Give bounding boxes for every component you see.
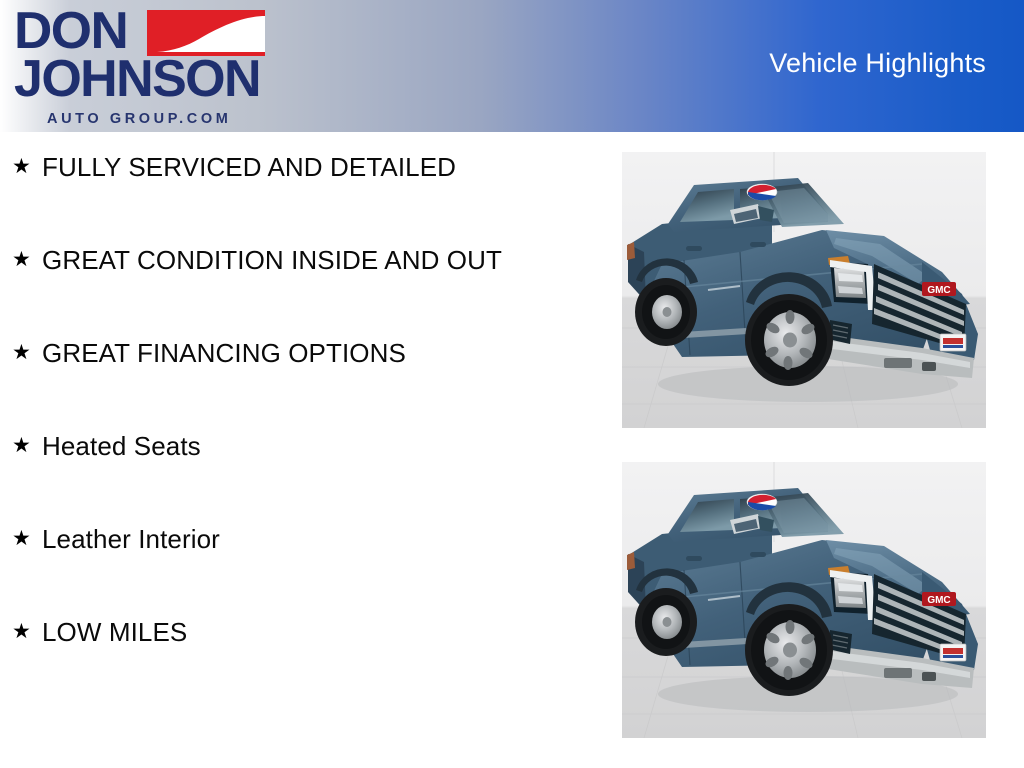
- svg-text:GMC: GMC: [927, 285, 950, 296]
- vehicle-photo-top[interactable]: GMC: [622, 152, 986, 428]
- star-icon: ★: [12, 336, 42, 370]
- page-title: Vehicle Highlights: [769, 50, 986, 77]
- list-item: ★ Leather Interior: [0, 522, 600, 556]
- logo-tagline: AUTO GROUP.COM: [47, 111, 231, 127]
- dealer-logo: DON JOHNSON AUTO GROUP.COM: [14, 6, 264, 128]
- highlight-text: FULLY SERVICED AND DETAILED: [42, 150, 512, 184]
- vehicle-photo-bottom[interactable]: GMC: [622, 462, 986, 738]
- svg-text:GMC: GMC: [927, 595, 950, 606]
- list-item: ★ GREAT FINANCING OPTIONS: [0, 336, 600, 370]
- highlight-text: Leather Interior: [42, 522, 512, 556]
- list-item: ★ Heated Seats: [0, 429, 600, 463]
- star-icon: ★: [12, 243, 42, 277]
- vehicle-highlights-page: DON JOHNSON AUTO GROUP.COM Vehicle Highl…: [0, 0, 1024, 768]
- star-icon: ★: [12, 150, 42, 184]
- highlight-text: GREAT FINANCING OPTIONS: [42, 336, 512, 370]
- list-item: ★ LOW MILES: [0, 615, 600, 649]
- list-item: ★ FULLY SERVICED AND DETAILED: [0, 150, 600, 184]
- star-icon: ★: [12, 522, 42, 556]
- logo-line2: JOHNSON: [14, 50, 260, 108]
- list-item: ★ GREAT CONDITION INSIDE AND OUT: [0, 243, 600, 277]
- highlight-text: LOW MILES: [42, 615, 512, 649]
- highlight-text: GREAT CONDITION INSIDE AND OUT: [42, 243, 512, 277]
- logo-bottom-row: JOHNSON: [14, 51, 260, 107]
- highlight-text: Heated Seats: [42, 429, 512, 463]
- star-icon: ★: [12, 615, 42, 649]
- header-banner: DON JOHNSON AUTO GROUP.COM Vehicle Highl…: [0, 0, 1024, 132]
- star-icon: ★: [12, 429, 42, 463]
- highlights-list: ★ FULLY SERVICED AND DETAILED ★ GREAT CO…: [0, 150, 600, 708]
